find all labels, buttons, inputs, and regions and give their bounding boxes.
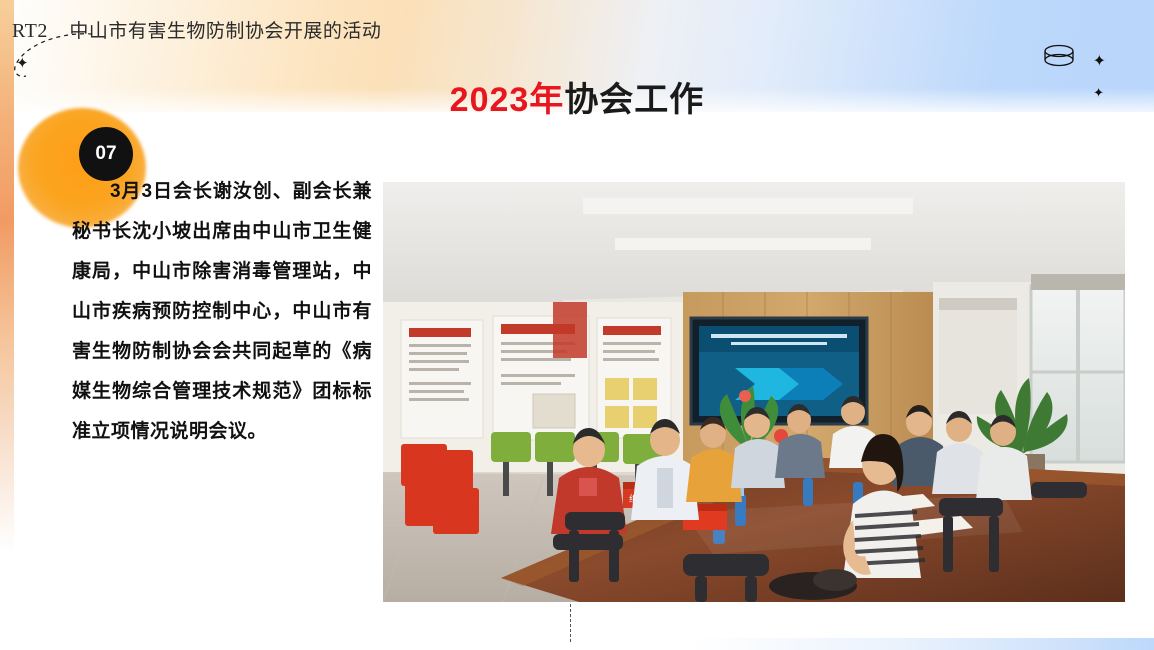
page-title-year: 2023年	[450, 81, 565, 119]
meeting-photo-illustration: 纸巾	[383, 182, 1125, 602]
slide-root: RT2 中山市有害生物防制协会开展的活动 ✦ ✦ ✦ 2023年协会工作 07 …	[0, 0, 1154, 650]
star-icon-top-right: ✦	[1093, 54, 1106, 70]
meeting-photo: 纸巾	[383, 182, 1125, 602]
page-title: 2023年协会工作	[0, 72, 1154, 121]
header-title-text: 中山市有害生物防制协会开展的活动	[69, 21, 381, 42]
header-tag: RT2	[12, 20, 48, 42]
page-title-rest: 协会工作	[564, 81, 704, 119]
stacked-ellipse-icon	[1042, 44, 1076, 70]
star-icon-left: ✦	[16, 56, 29, 71]
body-paragraph: 3月3日会长谢汝创、副会长兼秘书长沈小坡出席由中山市卫生健康局，中山市除害消毒管…	[72, 172, 372, 452]
dashed-divider	[570, 604, 571, 642]
header-breadcrumb: RT2 中山市有害生物防制协会开展的活动	[12, 16, 381, 43]
bottom-dots-decoration	[563, 640, 581, 648]
